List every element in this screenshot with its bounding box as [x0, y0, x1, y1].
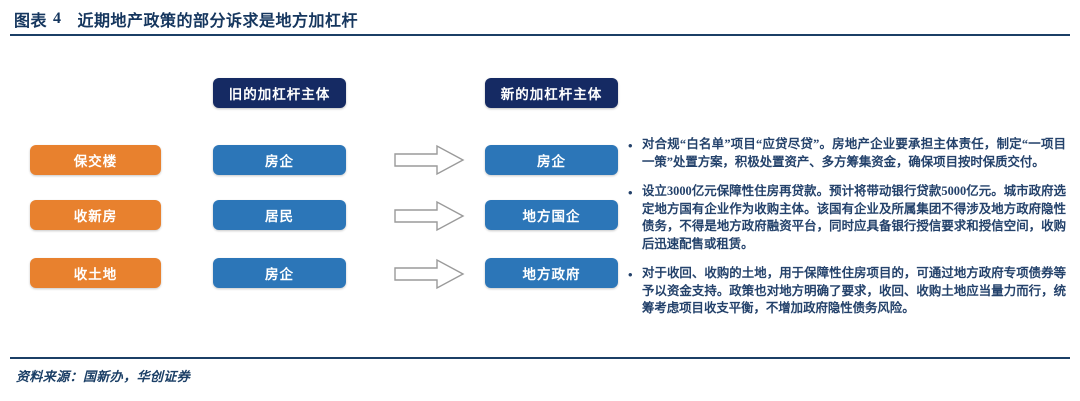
old-subject-box-2[interactable]: 居民 — [213, 200, 346, 230]
bullet-text-1: 对合规“白名单”项目“应贷尽贷”。房地产企业要承担主体责任，制定“一项目一策”处… — [642, 136, 1066, 171]
figure-title-text: 近期地产政策的部分诉求是地方加杠杆 — [78, 7, 359, 31]
source-note: 资料来源：国新办，华创证券 — [16, 366, 190, 385]
bullet-list: • 对合规“白名单”项目“应贷尽贷”。房地产企业要承担主体责任，制定“一项目一策… — [628, 136, 1066, 330]
new-subject-box-2[interactable]: 地方国企 — [485, 200, 618, 230]
right-arrow-icon — [393, 199, 465, 233]
footer-divider — [10, 357, 1070, 359]
bullet-dot-icon: • — [628, 136, 642, 171]
policy-box-3[interactable]: 收土地 — [30, 258, 161, 288]
old-subject-box-1[interactable]: 房企 — [213, 145, 346, 175]
title-divider — [10, 34, 1070, 36]
list-item: • 设立3000亿元保障性住房再贷款。预计将带动银行贷款5000亿元。城市政府选… — [628, 183, 1066, 253]
column-header-new: 新的加杠杆主体 — [485, 78, 618, 108]
list-item: • 对于收回、收购的土地，用于保障性住房项目的，可通过地方政府专项债券等予以资金… — [628, 265, 1066, 318]
diagram-area: 旧的加杠杆主体 新的加杠杆主体 保交楼 房企 房企 收新房 居民 地方国企 收土… — [0, 38, 1080, 356]
bullet-text-2: 设立3000亿元保障性住房再贷款。预计将带动银行贷款5000亿元。城市政府选定地… — [642, 183, 1066, 253]
policy-box-1[interactable]: 保交楼 — [30, 145, 161, 175]
right-arrow-icon — [393, 257, 465, 291]
figure-label: 图表 — [14, 7, 47, 31]
new-subject-box-3[interactable]: 地方政府 — [485, 258, 618, 288]
bullet-text-3: 对于收回、收购的土地，用于保障性住房项目的，可通过地方政府专项债券等予以资金支持… — [642, 265, 1066, 318]
policy-box-2[interactable]: 收新房 — [30, 200, 161, 230]
figure-container: 图表 4 近期地产政策的部分诉求是地方加杠杆 旧的加杠杆主体 新的加杠杆主体 保… — [0, 0, 1080, 401]
bullet-dot-icon: • — [628, 265, 642, 318]
new-subject-box-1[interactable]: 房企 — [485, 145, 618, 175]
right-arrow-icon — [393, 143, 465, 177]
column-header-old: 旧的加杠杆主体 — [213, 78, 346, 108]
list-item: • 对合规“白名单”项目“应贷尽贷”。房地产企业要承担主体责任，制定“一项目一策… — [628, 136, 1066, 171]
bullet-dot-icon: • — [628, 183, 642, 253]
old-subject-box-3[interactable]: 房企 — [213, 258, 346, 288]
page-title: 图表 4 近期地产政策的部分诉求是地方加杠杆 — [14, 6, 1066, 32]
figure-number: 4 — [53, 10, 62, 28]
